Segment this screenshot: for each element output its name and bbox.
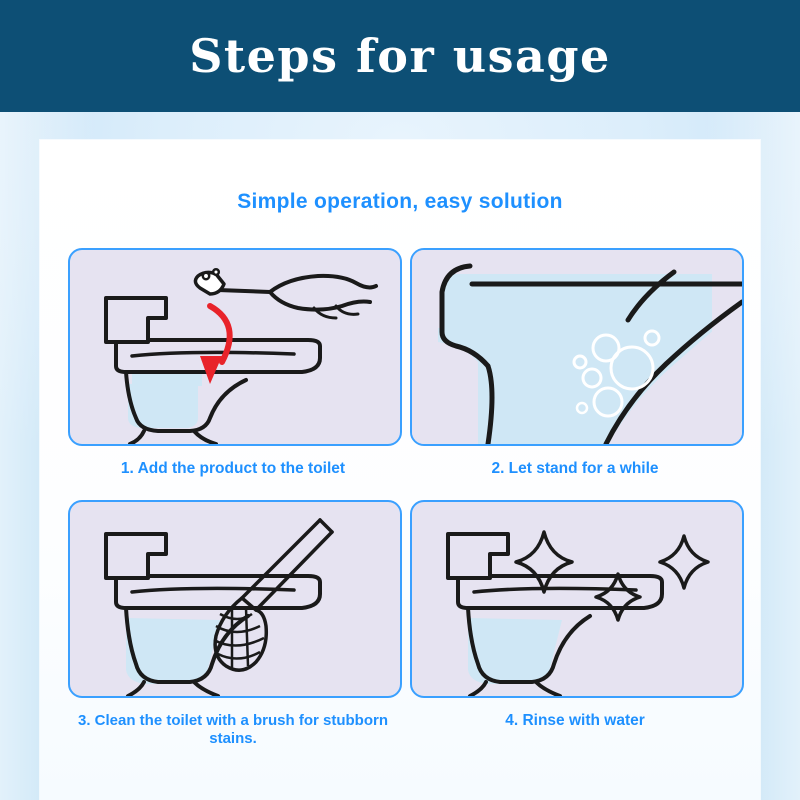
poster-header: Steps for usage bbox=[0, 0, 800, 112]
step-item: 4. Rinse with water bbox=[410, 500, 740, 731]
usage-steps-poster: Steps for usage Simple operation, easy s… bbox=[0, 0, 800, 800]
step-3-illustration bbox=[68, 500, 402, 698]
step-3-caption: 3. Clean the toilet with a brush for stu… bbox=[68, 712, 398, 748]
subtitle: Simple operation, easy solution bbox=[0, 190, 800, 214]
step-4-caption: 4. Rinse with water bbox=[410, 712, 740, 731]
step-item: 1. Add the product to the toilet bbox=[68, 248, 398, 479]
step-1-caption: 1. Add the product to the toilet bbox=[68, 460, 398, 479]
step-item: 3. Clean the toilet with a brush for stu… bbox=[68, 500, 398, 748]
steps-grid: 1. Add the product to the toilet bbox=[62, 248, 738, 758]
step-2-illustration bbox=[410, 248, 744, 446]
toilet-brush-scrubbing-icon bbox=[70, 502, 400, 696]
step-1-illustration bbox=[68, 248, 402, 446]
hand-pouring-product-into-toilet-icon bbox=[70, 250, 400, 444]
step-4-illustration bbox=[410, 500, 744, 698]
step-2-caption: 2. Let stand for a while bbox=[410, 460, 740, 479]
step-item: 2. Let stand for a while bbox=[410, 248, 740, 479]
toilet-bowl-bubbles-icon bbox=[412, 250, 742, 444]
clean-toilet-sparkles-icon bbox=[412, 502, 742, 696]
page-title: Steps for usage bbox=[189, 29, 611, 83]
